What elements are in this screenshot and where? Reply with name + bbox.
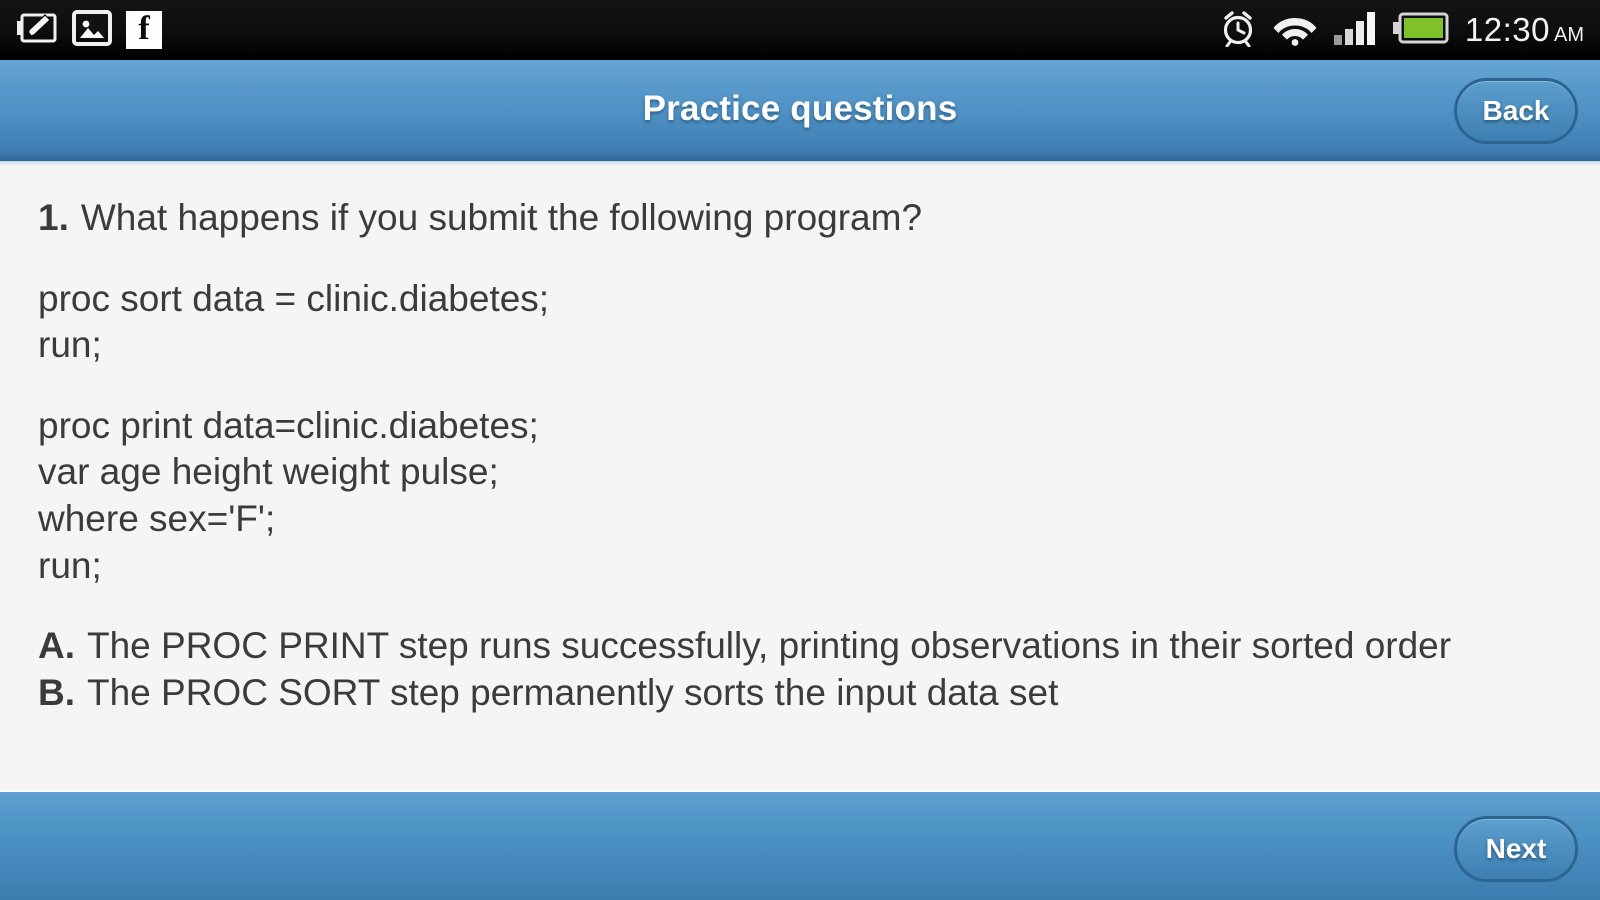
facebook-icon: f <box>126 11 162 49</box>
option-text: The PROC PRINT step runs successfully, p… <box>87 625 1451 666</box>
question-number: 1. <box>38 197 69 238</box>
cellular-signal-icon <box>1333 10 1377 51</box>
code-line: where sex='F'; <box>38 496 1562 543</box>
question-prompt-text: What happens if you submit the following… <box>81 197 922 238</box>
question-body: 1.What happens if you submit the followi… <box>38 195 1562 716</box>
answer-option-a[interactable]: A.The PROC PRINT step runs successfully,… <box>38 623 1562 670</box>
code-line: run; <box>38 543 1562 590</box>
gallery-image-icon <box>72 9 112 52</box>
compose-message-icon <box>16 10 58 51</box>
clock-time: 12:30 <box>1465 11 1550 49</box>
answer-option-b[interactable]: B.The PROC SORT step permanently sorts t… <box>38 670 1562 717</box>
code-line: var age height weight pulse; <box>38 449 1562 496</box>
option-letter: B. <box>38 672 75 713</box>
wifi-icon <box>1273 10 1317 51</box>
app-screen: f <box>0 0 1600 900</box>
clock-ampm: AM <box>1554 24 1584 47</box>
app-header-bar: Practice questions <box>0 60 1600 161</box>
code-block-sort: proc sort data = clinic.diabetes; run; <box>38 276 1562 369</box>
alarm-clock-icon <box>1219 9 1257 52</box>
question-prompt: 1.What happens if you submit the followi… <box>38 195 1562 242</box>
page-title: Practice questions <box>643 89 958 129</box>
battery-icon <box>1393 11 1449 50</box>
back-button[interactable]: Back <box>1454 78 1578 144</box>
next-button[interactable]: Next <box>1454 816 1578 882</box>
question-content-area[interactable]: 1.What happens if you submit the followi… <box>0 167 1600 790</box>
app-footer-bar: Next <box>0 790 1600 900</box>
status-bar-system-icons: 12:30 AM <box>1219 9 1584 52</box>
status-bar-clock: 12:30 AM <box>1465 11 1584 49</box>
option-text: The PROC SORT step permanently sorts the… <box>87 672 1058 713</box>
code-block-print: proc print data=clinic.diabetes; var age… <box>38 403 1562 589</box>
android-status-bar: f <box>0 0 1600 60</box>
code-line: proc print data=clinic.diabetes; <box>38 403 1562 450</box>
status-bar-notification-icons: f <box>16 9 162 52</box>
code-line: run; <box>38 322 1562 369</box>
code-line: proc sort data = clinic.diabetes; <box>38 276 1562 323</box>
option-letter: A. <box>38 625 75 666</box>
